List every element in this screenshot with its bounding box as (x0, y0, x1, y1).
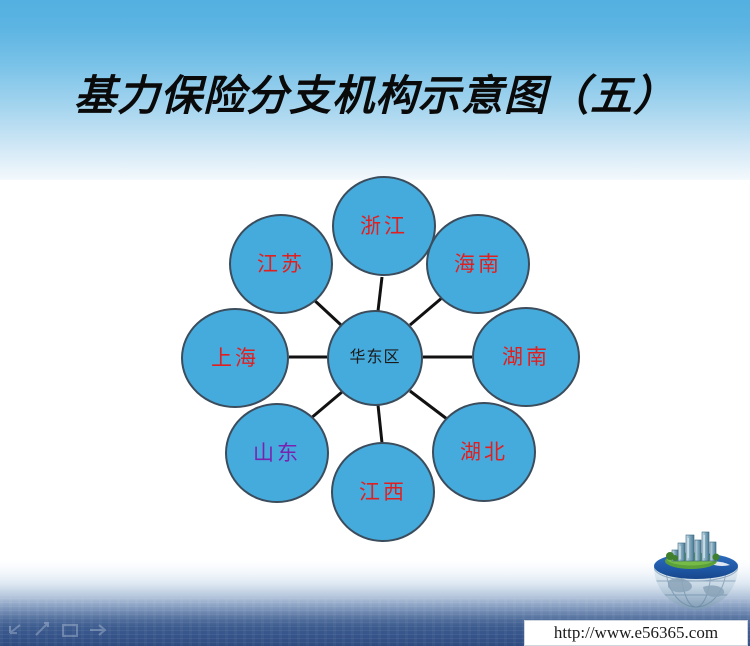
earth-city-globe-logo (648, 529, 744, 623)
node-jiangxi[interactable]: 江西 (331, 442, 435, 542)
node-hubei[interactable]: 湖北 (432, 402, 536, 502)
node-label: 江西 (359, 482, 407, 503)
node-shandong[interactable]: 山东 (225, 403, 329, 503)
node-label: 华东区 (349, 350, 400, 366)
edge-hub-jiangxi (378, 405, 382, 443)
node-zhejiang[interactable]: 浙江 (332, 176, 436, 276)
node-shanghai[interactable]: 上海 (181, 308, 289, 408)
edge-hub-jiangsu (313, 299, 341, 325)
website-url-box[interactable]: http://www.e56365.com (524, 620, 748, 646)
slide-canvas: 基力保险分支机构示意图（五） 华东区 浙江 海南 湖 (0, 0, 750, 646)
edge-hub-shandong (310, 392, 342, 419)
node-label: 江苏 (257, 254, 305, 275)
node-huadongqu[interactable]: 华东区 (327, 310, 423, 406)
node-jiangsu[interactable]: 江苏 (229, 214, 333, 314)
node-hainan[interactable]: 海南 (426, 214, 530, 314)
node-label: 湖北 (460, 442, 508, 463)
edge-hub-hubei (410, 391, 447, 419)
node-label: 山东 (253, 443, 301, 464)
node-label: 浙江 (360, 216, 408, 237)
node-label: 海南 (454, 254, 502, 275)
node-hunan[interactable]: 湖南 (472, 307, 580, 407)
org-chart-diagram: 华东区 浙江 海南 湖南 湖北 江西 山东 上海 江苏 (0, 0, 750, 646)
node-label: 湖南 (502, 347, 550, 368)
website-url-text: http://www.e56365.com (554, 623, 718, 643)
edge-hub-zhejiang (378, 277, 382, 311)
edge-hub-hainan (410, 297, 443, 325)
node-label: 上海 (211, 348, 259, 369)
